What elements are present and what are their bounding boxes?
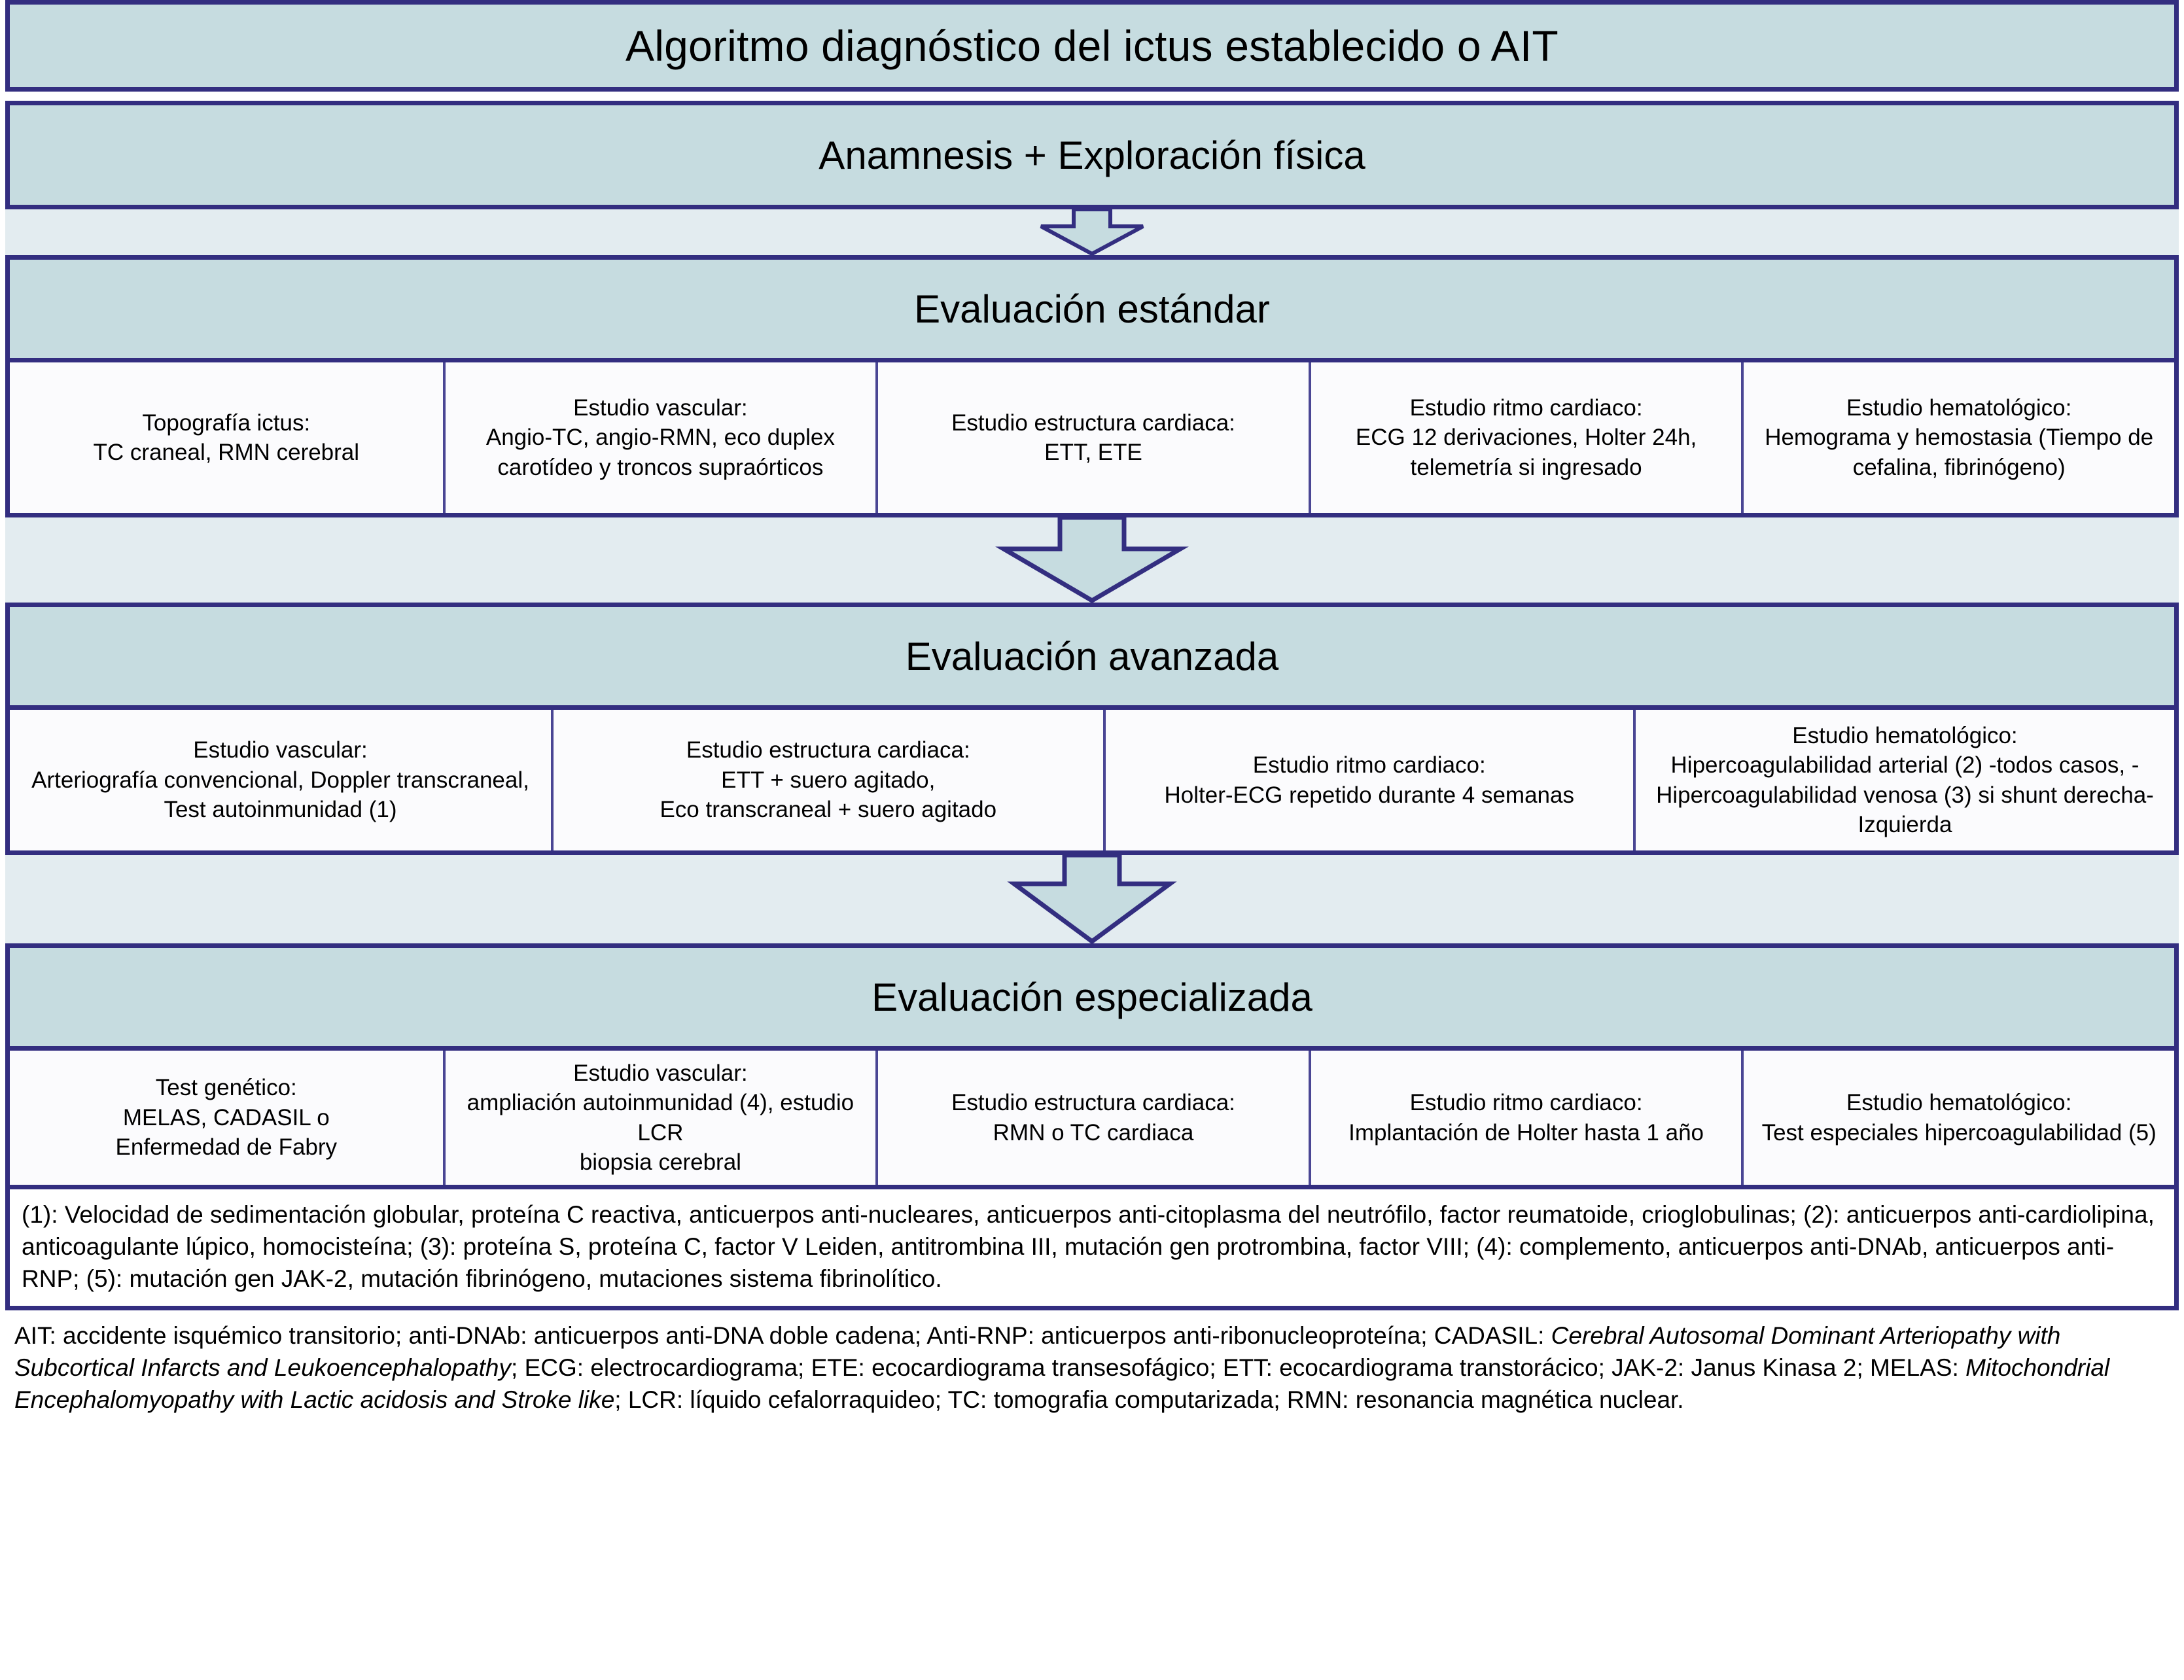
footnote-box: (1): Velocidad de sedimentación globular… <box>5 1189 2179 1310</box>
cell-estudio-vascular-avanzado: Estudio vascular: Arteriografía convenci… <box>10 710 551 850</box>
cell-text: Estudio estructura cardiaca: RMN o TC ca… <box>951 1088 1235 1147</box>
cell-hematologico-estandar: Estudio hematológico: Hemograma y hemost… <box>1741 362 2174 513</box>
stage-heading-label: Evaluación estándar <box>914 287 1270 332</box>
cell-text: Estudio ritmo cardiaco: Implantación de … <box>1348 1088 1704 1147</box>
stage-heading-label: Evaluación especializada <box>872 975 1312 1020</box>
down-block-arrow-icon <box>1027 209 1157 255</box>
diagram-root: Algoritmo diagnóstico del ictus establec… <box>0 0 2184 1680</box>
cell-text: Estudio hematológico: Test especiales hi… <box>1762 1088 2157 1147</box>
intake-step-label: Anamnesis + Exploración física <box>819 133 1365 178</box>
stage-columns-advanced: Estudio vascular: Arteriografía convenci… <box>10 705 2174 850</box>
cell-text: Estudio hematológico: Hemograma y hemost… <box>1753 393 2165 483</box>
cell-text: Estudio vascular: Angio-TC, angio-RMN, e… <box>455 393 867 483</box>
stage-columns-standard: Topografía ictus: TC craneal, RMN cerebr… <box>10 358 2174 513</box>
stage-heading-advanced: Evaluación avanzada <box>10 607 2174 705</box>
stage-heading-label: Evaluación avanzada <box>906 634 1278 679</box>
cell-estudio-vascular-estandar: Estudio vascular: Angio-TC, angio-RMN, e… <box>443 362 876 513</box>
cell-text: Topografía ictus: TC craneal, RMN cerebr… <box>94 408 360 468</box>
cell-text: Estudio vascular: ampliación autoinmunid… <box>455 1059 867 1178</box>
cell-estructura-cardiaca-avanzado: Estudio estructura cardiaca: ETT + suero… <box>551 710 1103 850</box>
diagram-title-banner: Algoritmo diagnóstico del ictus establec… <box>5 0 2179 92</box>
legend-part-3: ; LCR: líquido cefalorraquideo; TC: tomo… <box>614 1386 1683 1413</box>
stage-evaluacion-avanzada: Evaluación avanzada Estudio vascular: Ar… <box>5 603 2179 855</box>
cell-text: Estudio ritmo cardiaco: Holter-ECG repet… <box>1165 750 1574 810</box>
cell-ritmo-cardiaco-avanzado: Estudio ritmo cardiaco: Holter-ECG repet… <box>1103 710 1633 850</box>
stage-evaluacion-especializada: Evaluación especializada Test genético: … <box>5 943 2179 1189</box>
intake-step-box: Anamnesis + Exploración física <box>5 101 2179 209</box>
cell-text: Estudio ritmo cardiaco: ECG 12 derivacio… <box>1320 393 1733 483</box>
cell-estructura-cardiaca-especializado: Estudio estructura cardiaca: RMN o TC ca… <box>875 1051 1309 1185</box>
cell-text: Estudio estructura cardiaca: ETT, ETE <box>951 408 1235 468</box>
abbreviation-legend: AIT: accidente isquémico transitorio; an… <box>5 1310 2179 1416</box>
cell-estructura-cardiaca-estandar: Estudio estructura cardiaca: ETT, ETE <box>875 362 1309 513</box>
legend-part-1: AIT: accidente isquémico transitorio; an… <box>14 1322 1551 1349</box>
cell-test-genetico: Test genético: MELAS, CADASIL o Enfermed… <box>10 1051 443 1185</box>
cell-ritmo-cardiaco-estandar: Estudio ritmo cardiaco: ECG 12 derivacio… <box>1309 362 1742 513</box>
down-block-arrow-icon <box>984 517 1200 603</box>
stage-evaluacion-estandar: Evaluación estándar Topografía ictus: TC… <box>5 255 2179 517</box>
down-block-arrow-icon <box>997 855 1187 943</box>
legend-part-2: ; ECG: electrocardiograma; ETE: ecocardi… <box>511 1354 1965 1381</box>
cell-text: Estudio hematológico: Hipercoagulabilida… <box>1645 721 2165 840</box>
footnote-text: (1): Velocidad de sedimentación globular… <box>22 1201 2155 1292</box>
cell-text: Estudio estructura cardiaca: ETT + suero… <box>660 735 996 825</box>
cell-topografia-ictus: Topografía ictus: TC craneal, RMN cerebr… <box>10 362 443 513</box>
cell-hematologico-avanzado: Estudio hematológico: Hipercoagulabilida… <box>1633 710 2174 850</box>
stage-heading-specialized: Evaluación especializada <box>10 948 2174 1046</box>
stage-columns-specialized: Test genético: MELAS, CADASIL o Enfermed… <box>10 1046 2174 1185</box>
connector-band-3 <box>5 855 2179 943</box>
cell-ritmo-cardiaco-especializado: Estudio ritmo cardiaco: Implantación de … <box>1309 1051 1742 1185</box>
page-title: Algoritmo diagnóstico del ictus establec… <box>625 21 1559 71</box>
cell-text: Test genético: MELAS, CADASIL o Enfermed… <box>116 1073 338 1163</box>
cell-hematologico-especializado: Estudio hematológico: Test especiales hi… <box>1741 1051 2174 1185</box>
connector-band-2 <box>5 517 2179 603</box>
cell-estudio-vascular-especializado: Estudio vascular: ampliación autoinmunid… <box>443 1051 876 1185</box>
connector-band-1 <box>5 209 2179 255</box>
cell-text: Estudio vascular: Arteriografía convenci… <box>31 735 529 825</box>
stage-heading-standard: Evaluación estándar <box>10 260 2174 358</box>
